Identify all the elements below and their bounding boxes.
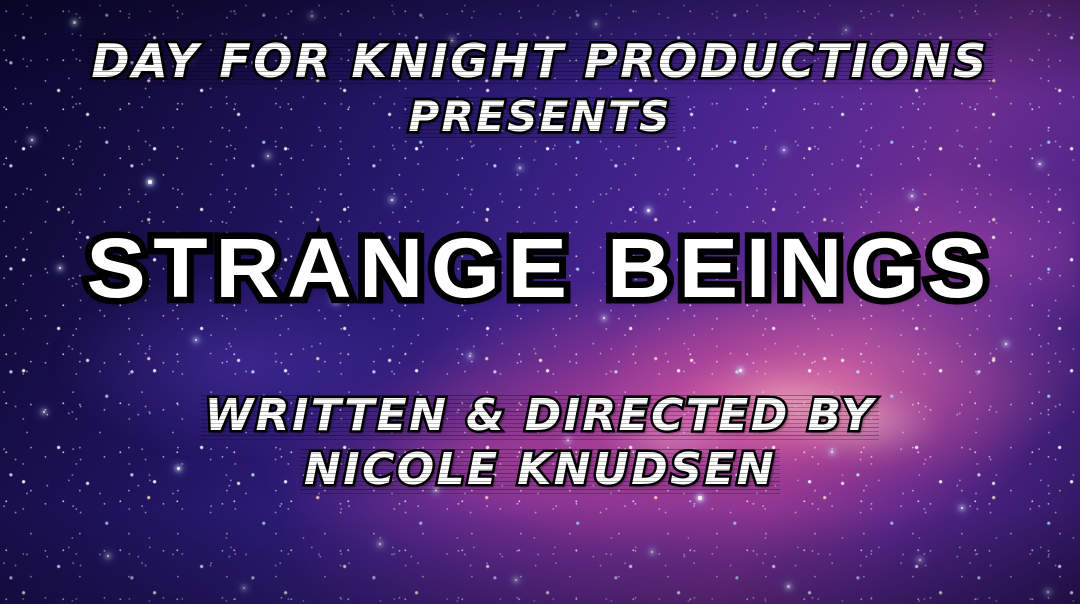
presents-label: PRESENTS [408,96,671,138]
written-directed-by-label: WRITTEN & DIRECTED BY [205,394,876,438]
title-text-stack: DAY FOR KNIGHT PRODUCTIONS PRESENTS STRA… [0,0,1080,604]
production-company-line: DAY FOR KNIGHT PRODUCTIONS [91,38,988,84]
movie-title: STRANGE BEINGS [86,226,993,310]
film-title-card: DAY FOR KNIGHT PRODUCTIONS PRESENTS STRA… [0,0,1080,604]
writer-director-name: NICOLE KNUDSEN [304,448,776,492]
